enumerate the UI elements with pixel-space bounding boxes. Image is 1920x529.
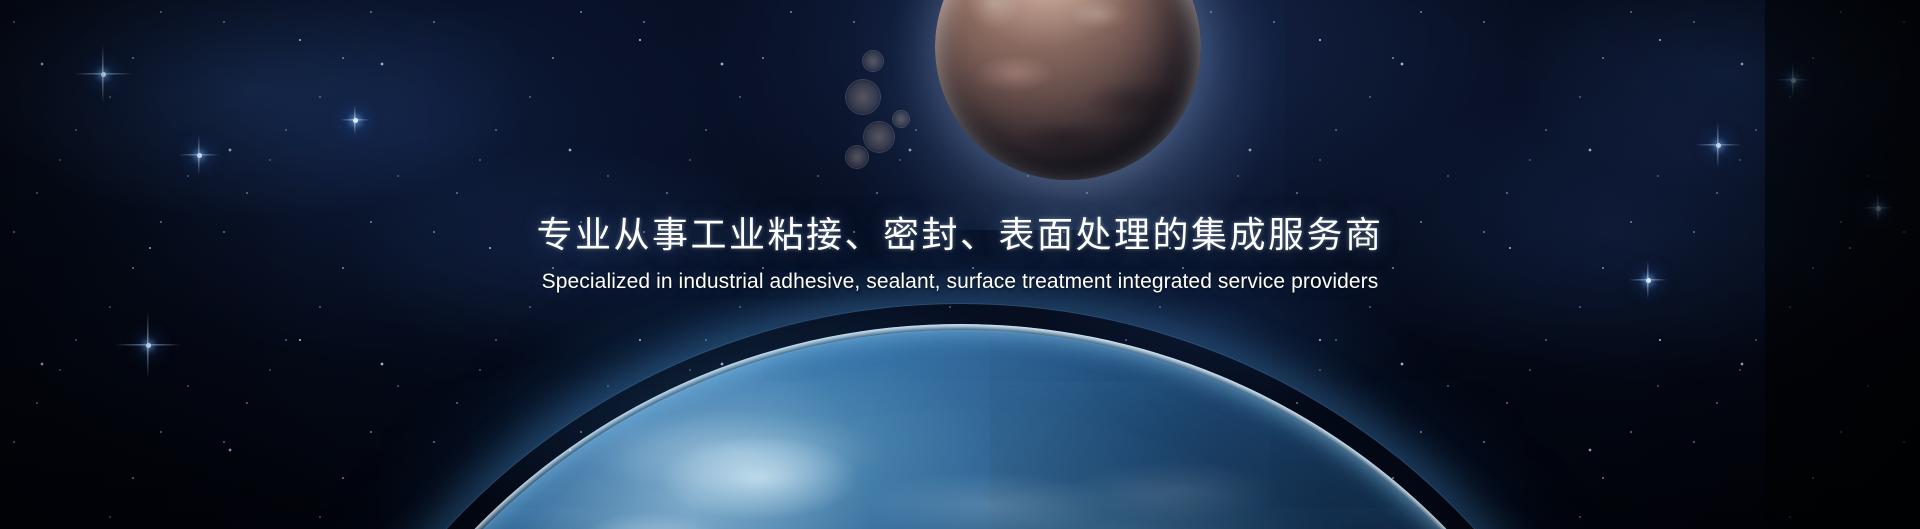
hero-banner: 专业从事工业粘接、密封、表面处理的集成服务商 Specialized in in… [0, 0, 1920, 529]
earth-sphere [288, 330, 1633, 529]
rocky-planet [935, 0, 1201, 180]
earth-night-shadow [288, 330, 1633, 529]
